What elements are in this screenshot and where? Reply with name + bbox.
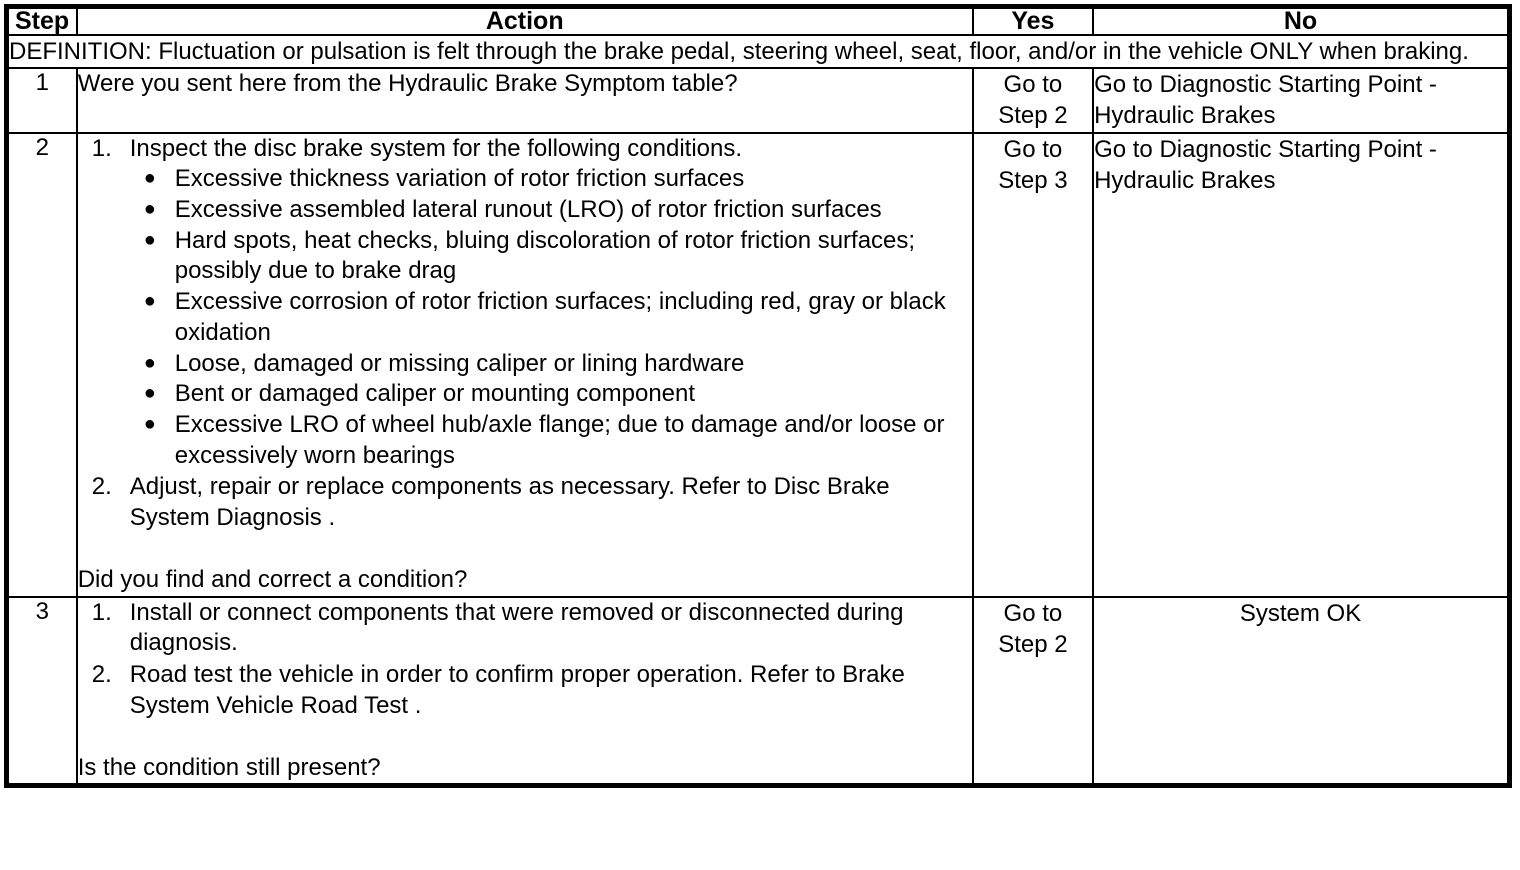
list-item-text: Loose, damaged or missing caliper or lin… [175,350,745,377]
yes-line-2: Step 3 [974,165,1092,196]
diagnostic-table: Step Action Yes No DEFINITION: Fluctuati… [4,4,1512,788]
list-item-text: Excessive LRO of wheel hub/axle flange; … [175,411,945,469]
list-item-number: 2. [92,660,112,691]
table-row: 3 1. Install or connect components that … [7,597,1510,786]
yes-outcome: Go to Step 3 [973,133,1093,597]
column-header-action: Action [77,7,973,36]
no-line-1: System OK [1094,598,1507,629]
list-item-text: Road test the vehicle in order to confir… [130,661,905,719]
bullet-icon: ● [144,348,156,379]
definition-row: DEFINITION: Fluctuation or pulsation is … [7,35,1510,68]
list-item: ● Hard spots, heat checks, bluing discol… [130,226,972,287]
list-item-text: Hard spots, heat checks, bluing discolor… [175,227,915,285]
bullet-icon: ● [144,194,156,225]
paragraph-spacer [78,723,972,753]
list-item-text: Excessive corrosion of rotor friction su… [175,288,946,346]
column-header-no: No [1093,7,1509,36]
list-item-text: Inspect the disc brake system for the fo… [130,135,742,162]
definition-text: DEFINITION: Fluctuation or pulsation is … [7,35,1510,68]
yes-outcome: Go to Step 2 [973,597,1093,786]
no-line-2: Hydraulic Brakes [1094,100,1507,131]
step-action: Were you sent here from the Hydraulic Br… [77,68,973,132]
list-item: ● Excessive corrosion of rotor friction … [130,287,972,348]
column-header-yes: Yes [973,7,1093,36]
list-item: ● Loose, damaged or missing caliper or l… [130,349,972,380]
action-question: Were you sent here from the Hydraulic Br… [78,69,972,100]
table-row: 2 1. Inspect the disc brake system for t… [7,133,1510,597]
list-item: 2. Adjust, repair or replace components … [78,472,972,533]
step-number: 1 [7,68,77,132]
yes-line-1: Go to [974,69,1092,100]
bullet-icon: ● [144,163,156,194]
list-item: ● Excessive thickness variation of rotor… [130,164,972,195]
list-item: ● Bent or damaged caliper or mounting co… [130,379,972,410]
bullet-icon: ● [144,378,156,409]
list-item-number: 1. [92,134,112,165]
action-numbered-list: 1. Install or connect components that we… [78,598,972,722]
list-item-text: Excessive assembled lateral runout (LRO)… [175,196,882,223]
list-item: ● Excessive LRO of wheel hub/axle flange… [130,410,972,471]
list-item: 1. Install or connect components that we… [78,598,972,659]
list-item-text: Adjust, repair or replace components as … [130,473,890,531]
bullet-icon: ● [144,409,156,440]
yes-outcome: Go to Step 2 [973,68,1093,132]
yes-line-2: Step 2 [974,629,1092,660]
bullet-icon: ● [144,225,156,256]
list-item: ● Excessive assembled lateral runout (LR… [130,195,972,226]
table-header-row: Step Action Yes No [7,7,1510,36]
bullet-icon: ● [144,286,156,317]
step-action: 1. Install or connect components that we… [77,597,973,786]
list-item-text: Bent or damaged caliper or mounting comp… [175,380,695,407]
column-header-step: Step [7,7,77,36]
paragraph-spacer [78,535,972,565]
yes-line-1: Go to [974,134,1092,165]
list-item: 1. Inspect the disc brake system for the… [78,134,972,472]
yes-line-1: Go to [974,598,1092,629]
step-action: 1. Inspect the disc brake system for the… [77,133,973,597]
diagnostic-table-page: Step Action Yes No DEFINITION: Fluctuati… [0,0,1520,870]
no-line-1: Go to Diagnostic Starting Point - [1094,69,1507,100]
no-outcome: Go to Diagnostic Starting Point - Hydrau… [1093,68,1509,132]
table-row: 1 Were you sent here from the Hydraulic … [7,68,1510,132]
step-number: 3 [7,597,77,786]
list-item: 2. Road test the vehicle in order to con… [78,660,972,721]
list-item-number: 2. [92,472,112,503]
action-question: Is the condition still present? [78,753,972,784]
list-item-text: Excessive thickness variation of rotor f… [175,165,745,192]
step-number: 2 [7,133,77,597]
list-item-number: 1. [92,598,112,629]
yes-line-2: Step 2 [974,100,1092,131]
no-outcome: Go to Diagnostic Starting Point - Hydrau… [1093,133,1509,597]
no-line-1: Go to Diagnostic Starting Point - [1094,134,1507,165]
no-line-2: Hydraulic Brakes [1094,165,1507,196]
no-outcome: System OK [1093,597,1509,786]
action-question: Did you find and correct a condition? [78,565,972,596]
list-item-text: Install or connect components that were … [130,599,904,657]
action-bullet-list: ● Excessive thickness variation of rotor… [130,164,972,471]
action-numbered-list: 1. Inspect the disc brake system for the… [78,134,972,534]
